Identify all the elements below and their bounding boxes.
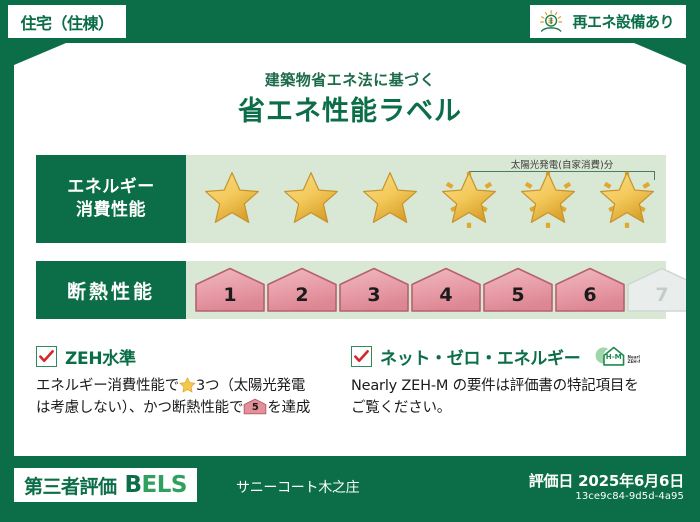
net-zero-energy-title: ネット・ゼロ・エネルギー: [380, 344, 580, 369]
insulation-level-2: 2: [266, 265, 338, 315]
net-zero-energy-body: Nearly ZEH-M の要件は評価書の特記項目をご覧ください。: [351, 376, 652, 420]
property-name: サニーコート木之庄: [236, 477, 359, 497]
bels-chip: 第三者評価 BELS: [14, 468, 197, 502]
star-1: [192, 155, 271, 243]
house-icon: [626, 266, 698, 314]
insulation-performance-value: 1234567: [186, 261, 666, 319]
criteria-section: ZEH水準 エネルギー消費性能で3つ（太陽光発電 は考慮しない）、かつ断熱性能で…: [36, 343, 666, 448]
insulation-key-label: 断熱性能: [67, 277, 155, 304]
criterion-net-zero-energy: ネット・ゼロ・エネルギー H-M Nearly ZEH-M Nearly ZEH…: [351, 343, 666, 448]
star-5: [508, 155, 587, 243]
house-icon: [410, 266, 482, 314]
house-icon: [266, 266, 338, 314]
zeh-body-mid: は考慮しない）、かつ断熱性能で: [36, 400, 243, 416]
zeh-standard-body: エネルギー消費性能で3つ（太陽光発電 は考慮しない）、かつ断熱性能で5を達成: [36, 376, 337, 420]
building-type-label: 住宅（住棟）: [20, 10, 113, 34]
energy-performance-label: 住宅（住棟） 再エネ設備あり 建築物省エネ法に基づく 省エネ性能ラベル: [0, 0, 700, 522]
insulation-level-4: 4: [410, 265, 482, 315]
inline-house-badge: 5: [243, 398, 267, 415]
house-icon: [194, 266, 266, 314]
house-icon: [482, 266, 554, 314]
star-icon: [592, 165, 662, 233]
check-icon: [38, 348, 55, 365]
criterion-zeh-standard: ZEH水準 エネルギー消費性能で3つ（太陽光発電 は考慮しない）、かつ断熱性能で…: [36, 343, 351, 448]
energy-key-line2: 消費性能: [76, 199, 146, 222]
house-icon: [554, 266, 626, 314]
evaluation-date-value: 2025年6月6日: [578, 472, 684, 490]
bels-logo-els: ELS: [142, 472, 187, 498]
insulation-level-3: 3: [338, 265, 410, 315]
insulation-performance-key: 断熱性能: [36, 261, 186, 319]
star-6: [587, 155, 666, 243]
building-type-chip: 住宅（住棟）: [8, 5, 126, 38]
zeh-body-star-count: 3つ（太陽光発電: [196, 378, 305, 394]
third-party-label: 第三者評価: [24, 472, 117, 499]
zeh-body-pre: エネルギー消費性能で: [36, 378, 179, 394]
insulation-level-7: 7: [626, 265, 698, 315]
star-icon: [197, 165, 267, 233]
zeh-m-logo-caption2: ZEH-M: [628, 359, 640, 364]
star-4: [429, 155, 508, 243]
zeh-standard-title: ZEH水準: [65, 344, 136, 369]
evaluation-id: 13ce9c84-9d5d-4a95: [575, 491, 684, 502]
insulation-level-scale: 1234567: [186, 261, 666, 319]
star-icon: [434, 165, 504, 233]
label-card: 建築物省エネ法に基づく 省エネ性能ラベル エネルギー 消費性能 太陽光発電(自家…: [14, 43, 686, 456]
house-icon: [338, 266, 410, 314]
energy-performance-row: エネルギー 消費性能 太陽光発電(自家消費)分: [36, 155, 666, 243]
page-title: 省エネ性能ラベル: [14, 89, 686, 128]
zeh-standard-checkbox[interactable]: [36, 346, 57, 367]
check-icon: [353, 348, 370, 365]
star-icon: [513, 165, 583, 233]
zeh-body-post: を達成: [267, 400, 310, 416]
energy-key-line1: エネルギー: [67, 176, 155, 199]
label-subtitle: 建築物省エネ法に基づく: [14, 69, 686, 90]
insulation-performance-row: 断熱性能 1234567: [36, 261, 666, 319]
sun-renewable-icon: [538, 9, 566, 35]
star-3: [350, 155, 429, 243]
energy-performance-value: 太陽光発電(自家消費)分: [186, 155, 666, 243]
inline-house-level: 5: [243, 398, 267, 415]
bels-logo-b: B: [125, 472, 142, 498]
zeh-m-logo-icon: H-M Nearly ZEH-M: [592, 343, 640, 369]
evaluation-date-label: 評価日: [529, 472, 573, 490]
star-2: [271, 155, 350, 243]
renewable-energy-badge: 再エネ設備あり: [530, 5, 686, 38]
star-icon: [276, 165, 346, 233]
renewable-energy-label: 再エネ設備あり: [572, 11, 674, 32]
inline-star-icon: [179, 377, 196, 393]
insulation-level-5: 5: [482, 265, 554, 315]
net-zero-energy-checkbox[interactable]: [351, 346, 372, 367]
insulation-level-1: 1: [194, 265, 266, 315]
energy-performance-key: エネルギー 消費性能: [36, 155, 186, 243]
criterion-zeh-header: ZEH水準: [36, 343, 337, 369]
zeh-m-logo-text: H-M: [606, 352, 622, 361]
insulation-level-6: 6: [554, 265, 626, 315]
star-icon: [355, 165, 425, 233]
label-footer: 第三者評価 BELS サニーコート木之庄 評価日 2025年6月6日 13ce9…: [0, 456, 700, 522]
criterion-nze-header: ネット・ゼロ・エネルギー H-M Nearly ZEH-M: [351, 343, 652, 369]
energy-star-rating: [186, 155, 666, 243]
evaluation-date: 評価日 2025年6月6日: [529, 470, 684, 491]
bels-logo: BELS: [125, 472, 187, 498]
